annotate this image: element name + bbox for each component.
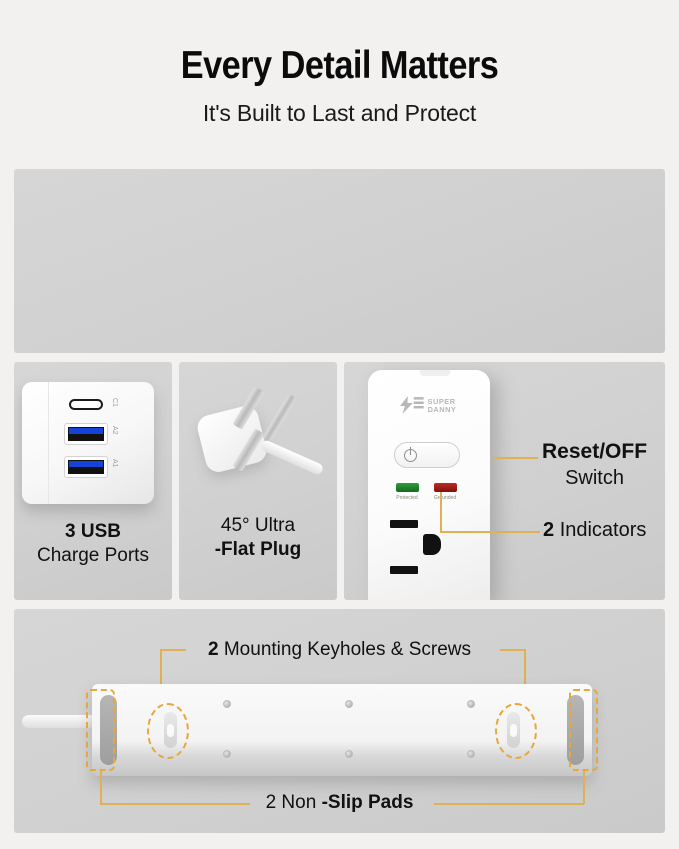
caption-flat-plug: 45° Ultra -Flat Plug — [179, 514, 337, 563]
caption-plug-bold: -Flat Plug — [179, 538, 337, 562]
panel-underside: 2 Mounting Keyholes & Screws — [14, 609, 665, 833]
callout-reset-off-bold: Reset/OFF — [542, 440, 647, 463]
power-icon — [404, 449, 417, 462]
highlight-keyhole-left — [147, 703, 189, 759]
indicator-protected-label: Protected — [392, 495, 422, 501]
callout-line-keyhole-right — [500, 649, 526, 651]
power-strip-face: SUPER DANNY Protected Grounded — [368, 370, 490, 600]
housing-seam — [48, 382, 49, 504]
brand-logo-icon: SUPER DANNY — [398, 395, 472, 415]
screw-1 — [223, 700, 231, 708]
caption-plug-regular: 45° Ultra — [179, 514, 337, 538]
callout-non-slip-pads: 2 Non -Slip Pads — [14, 792, 665, 814]
reset-off-switch[interactable] — [394, 442, 460, 468]
highlight-pad-left — [86, 689, 115, 771]
callout-keyholes-bold: 2 — [208, 639, 219, 660]
screw-6 — [467, 750, 475, 758]
plug-ground-prong — [262, 393, 296, 442]
infographic-page: Every Detail Matters It's Built to Last … — [0, 0, 679, 849]
plug-cord — [260, 439, 325, 476]
panel-wide-spaced-outlet: 2 Inch Wide-Spaced Outlet — [14, 169, 665, 353]
underside-cord — [22, 715, 96, 728]
usb-a-port-a2-icon — [65, 424, 107, 444]
panel-flat-plug: 45° Ultra -Flat Plug — [179, 362, 337, 600]
face-outlet-ground — [423, 534, 441, 555]
callout-line-indicators-vertical — [440, 492, 442, 532]
callout-reset-off-switch: Reset/OFF Switch — [542, 438, 647, 491]
highlight-keyhole-right — [495, 703, 537, 759]
callout-keyholes-regular: Mounting Keyholes & Screws — [224, 639, 471, 660]
screw-2 — [345, 700, 353, 708]
callout-pads-bold: -Slip Pads — [322, 792, 414, 813]
screw-5 — [345, 750, 353, 758]
callout-pads-regular: 2 Non — [266, 792, 317, 813]
panel-switch-indicators: SUPER DANNY Protected Grounded Reset/OFF… — [344, 362, 665, 600]
callout-line-keyhole-left — [160, 649, 186, 651]
housing-nub — [420, 370, 450, 376]
port-label-a1: A1 — [111, 459, 118, 468]
face-outlet-slot-bottom — [390, 566, 418, 574]
caption-usb-bold: 3 USB — [14, 520, 172, 544]
usb-port-block: C1 A2 A1 — [22, 382, 154, 504]
callout-indicators: 2 Indicators — [543, 519, 646, 542]
indicator-protected — [396, 483, 419, 492]
caption-usb-regular: Charge Ports — [14, 544, 172, 568]
port-label-c1: C1 — [111, 398, 118, 407]
callout-indicators-bold: 2 — [543, 519, 554, 541]
callout-switch-regular: Switch — [542, 465, 647, 491]
usb-c-port-icon — [69, 399, 103, 410]
header: Every Detail Matters It's Built to Last … — [0, 0, 679, 127]
callout-line-switch — [494, 457, 538, 459]
screw-3 — [467, 700, 475, 708]
callout-mounting-keyholes: 2 Mounting Keyholes & Screws — [14, 639, 665, 661]
face-outlet-slot-top — [390, 520, 418, 528]
callout-line-indicators-horizontal — [440, 531, 540, 533]
svg-text:DANNY: DANNY — [428, 405, 457, 414]
page-title: Every Detail Matters — [41, 46, 639, 87]
panel-usb-ports: C1 A2 A1 3 USB Charge Ports — [14, 362, 172, 600]
callout-indicators-regular: Indicators — [560, 519, 647, 541]
indicator-grounded-label: Grounded — [430, 495, 460, 501]
caption-usb-ports: 3 USB Charge Ports — [14, 520, 172, 569]
usb-a-port-a1-icon — [65, 457, 107, 477]
indicator-grounded — [434, 483, 457, 492]
port-label-a2: A2 — [111, 426, 118, 435]
highlight-pad-right — [569, 689, 598, 771]
screw-4 — [223, 750, 231, 758]
page-subtitle: It's Built to Last and Protect — [0, 100, 679, 127]
flat-plug-art — [197, 380, 321, 510]
